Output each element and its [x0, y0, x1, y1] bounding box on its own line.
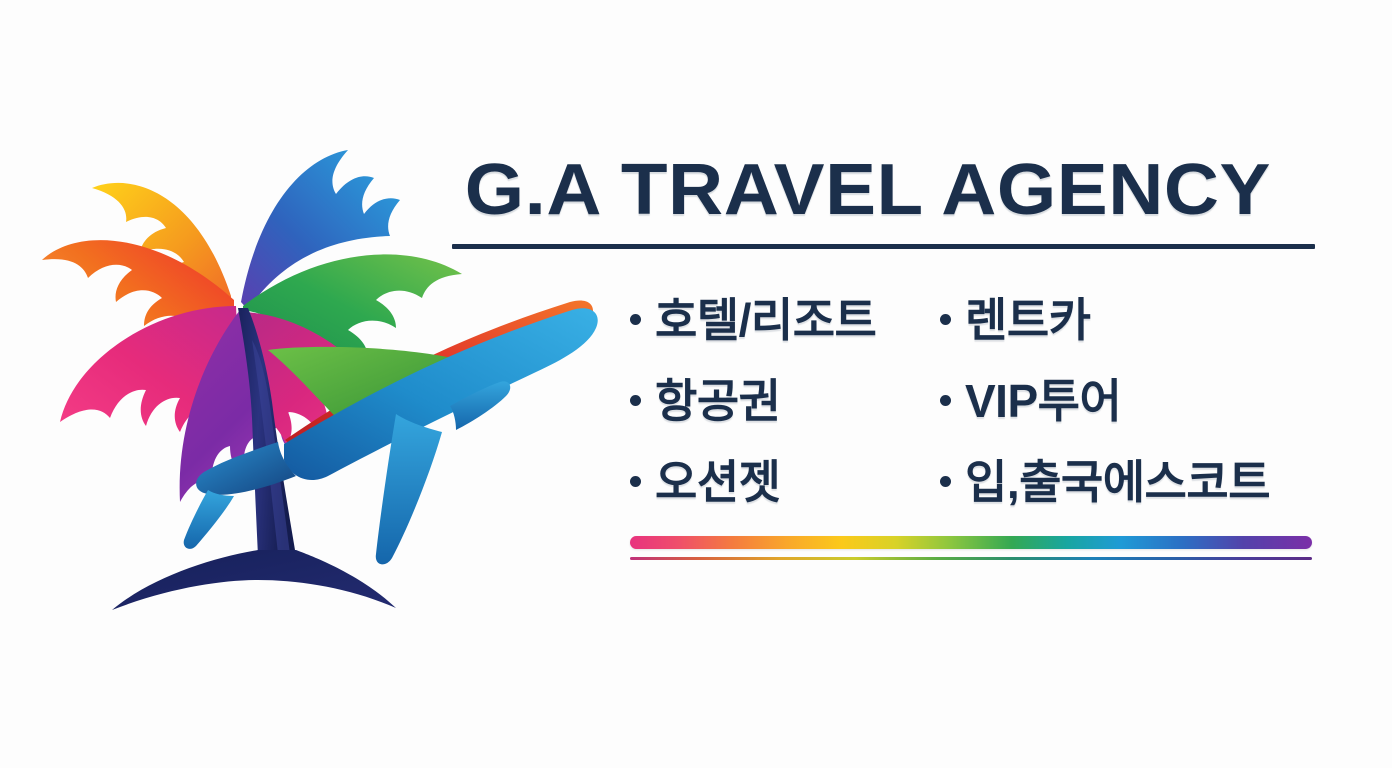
service-item-ocean-jet: 오션젯	[630, 441, 940, 522]
rainbow-divider	[630, 536, 1312, 560]
service-item-hotel-resort: 호텔/리조트	[630, 279, 940, 360]
bullet-icon	[940, 395, 951, 406]
service-item-vip-tour: VIP투어	[940, 360, 1332, 441]
service-item-airport-escort: 입,출국에스코트	[940, 441, 1332, 522]
airplane-fin-lower	[184, 490, 234, 549]
bullet-icon	[630, 314, 641, 325]
rainbow-bar-thin	[630, 557, 1312, 560]
bullet-icon	[940, 314, 951, 325]
service-label: 호텔/리조트	[655, 294, 876, 346]
bullet-icon	[940, 476, 951, 487]
logo-text-block: G.A TRAVEL AGENCY 호텔/리조트 렌트카 항공권 VIP투어	[452, 150, 1332, 522]
service-item-air-ticket: 항공권	[630, 360, 940, 441]
palm-trunk-base	[112, 550, 396, 610]
service-label: 렌트카	[965, 294, 1090, 346]
bullet-icon	[630, 476, 641, 487]
title-underline	[452, 244, 1315, 249]
rainbow-bar-thick	[630, 536, 1312, 549]
service-label: 항공권	[655, 375, 780, 427]
services-list: 호텔/리조트 렌트카 항공권 VIP투어 오션젯 입,출국	[452, 279, 1332, 522]
service-label: 입,출국에스코트	[965, 456, 1270, 508]
travel-agency-logo-banner: G.A TRAVEL AGENCY 호텔/리조트 렌트카 항공권 VIP투어	[0, 0, 1392, 768]
service-label: VIP투어	[965, 375, 1121, 427]
bullet-icon	[630, 395, 641, 406]
page-title: G.A TRAVEL AGENCY	[452, 150, 1385, 230]
service-item-rental-car: 렌트카	[940, 279, 1332, 360]
service-label: 오션젯	[655, 456, 780, 508]
